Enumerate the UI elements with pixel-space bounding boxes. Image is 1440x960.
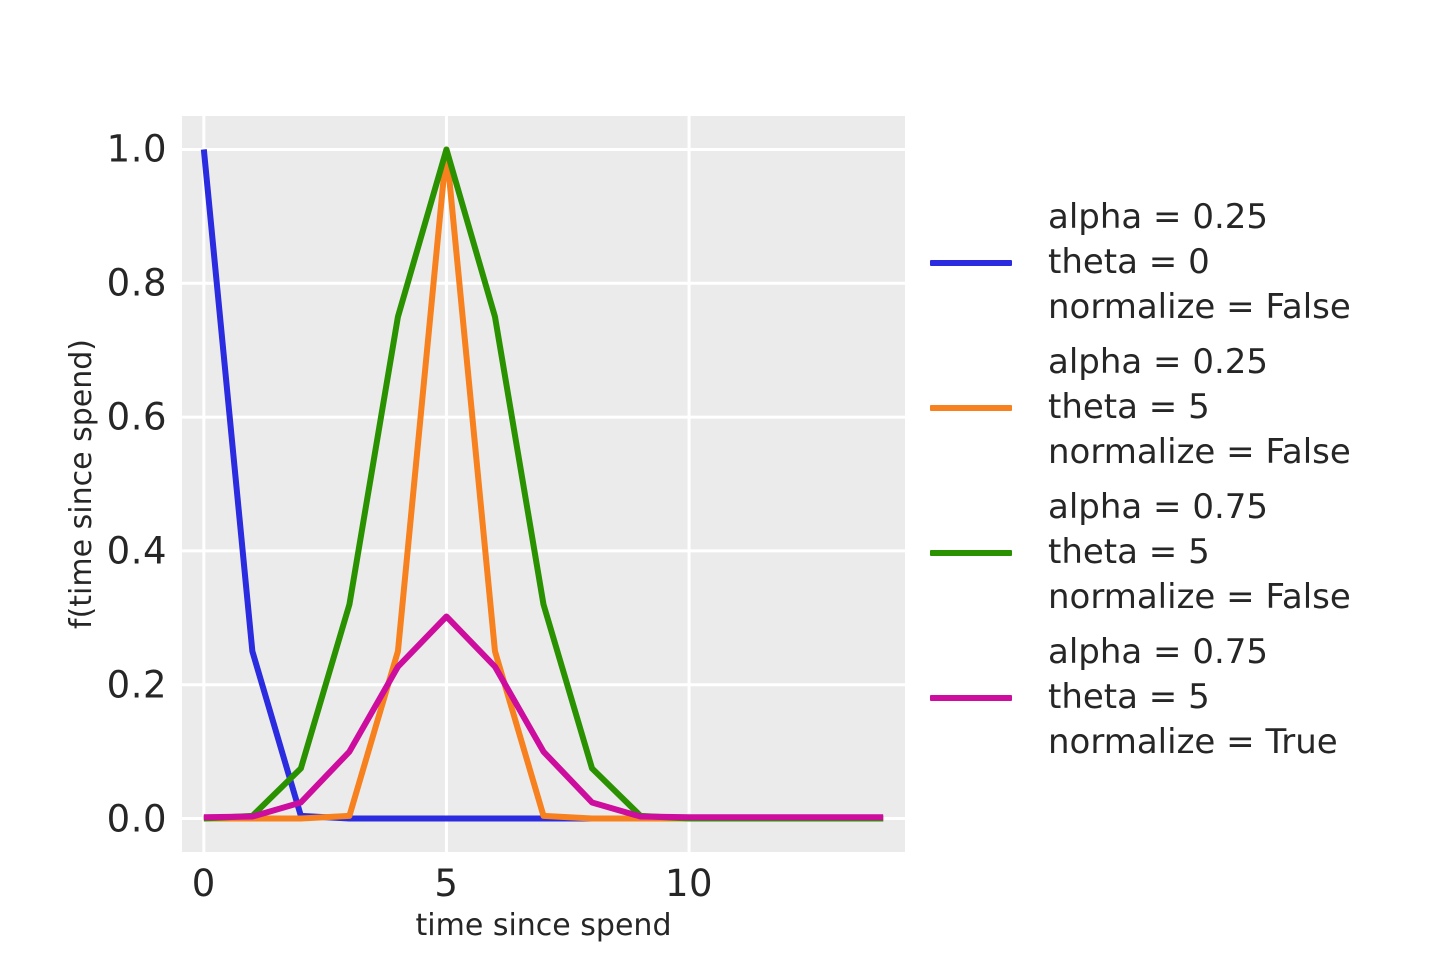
legend-entry[interactable]: alpha = 0.25 theta = 0 normalize = False <box>930 190 1430 335</box>
series-line-0 <box>204 149 883 818</box>
legend-entry[interactable]: alpha = 0.75 theta = 5 normalize = False <box>930 480 1430 625</box>
legend-label: alpha = 0.75 theta = 5 normalize = False <box>1048 485 1351 620</box>
legend-entry[interactable]: alpha = 0.75 theta = 5 normalize = True <box>930 625 1430 770</box>
y-axis-title: f(time since spend) <box>62 116 102 852</box>
legend-swatch-icon <box>930 695 1012 701</box>
series-line-2 <box>204 149 883 818</box>
legend-entry[interactable]: alpha = 0.25 theta = 5 normalize = False <box>930 335 1430 480</box>
legend-label: alpha = 0.75 theta = 5 normalize = True <box>1048 630 1338 765</box>
y-tick-label: 1.0 <box>107 128 167 171</box>
legend-label: alpha = 0.25 theta = 0 normalize = False <box>1048 195 1351 330</box>
x-tick-label: 5 <box>434 862 458 905</box>
y-tick-label: 0.6 <box>107 396 167 439</box>
y-tick-label: 0.2 <box>107 663 167 706</box>
x-axis-tick-labels: 0510 <box>182 862 905 912</box>
y-tick-label: 0.8 <box>107 262 167 305</box>
x-tick-label: 0 <box>192 862 216 905</box>
figure-canvas: 0.00.20.40.60.81.0 0510 time since spend… <box>0 0 1440 960</box>
x-tick-label: 10 <box>665 862 713 905</box>
legend-swatch-icon <box>930 405 1012 411</box>
y-tick-label: 0.0 <box>107 797 167 840</box>
legend-swatch-icon <box>930 260 1012 266</box>
legend-label: alpha = 0.25 theta = 5 normalize = False <box>1048 340 1351 475</box>
y-tick-label: 0.4 <box>107 529 167 572</box>
legend-swatch-icon <box>930 550 1012 556</box>
series-line-1 <box>204 149 883 818</box>
y-axis-title-wrapper: f(time since spend) <box>62 116 102 852</box>
series-line-3 <box>204 616 883 817</box>
data-layer <box>182 116 905 852</box>
plot-panel <box>182 116 905 852</box>
x-axis-title: time since spend <box>182 908 905 943</box>
chart-legend: alpha = 0.25 theta = 0 normalize = False… <box>930 190 1430 770</box>
